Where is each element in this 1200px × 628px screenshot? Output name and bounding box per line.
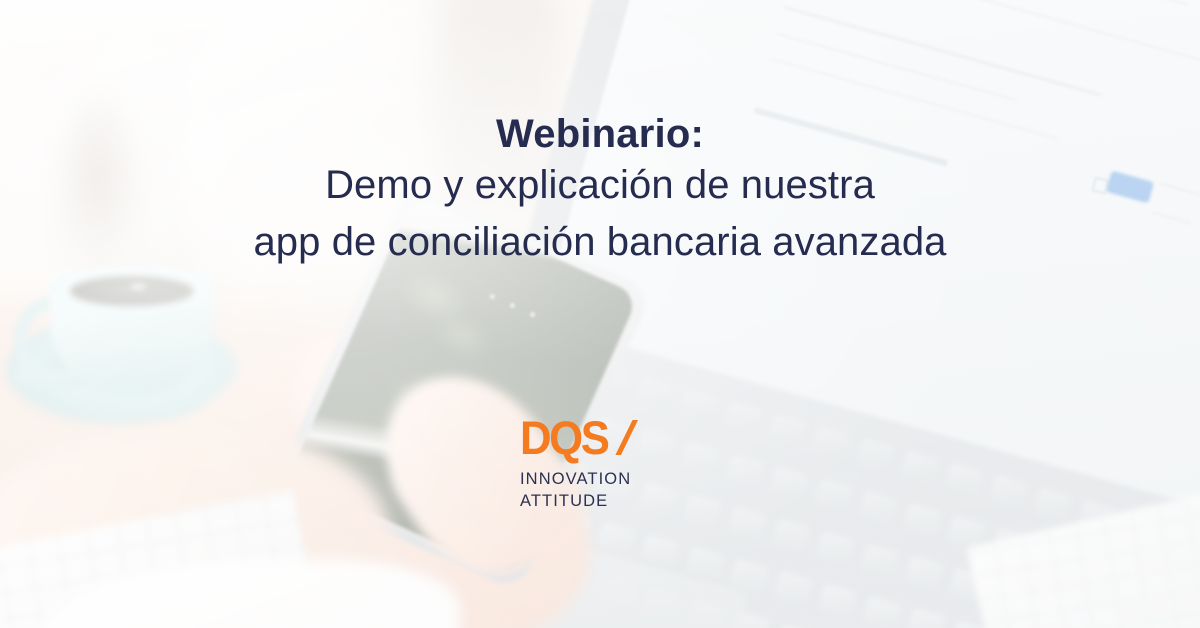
- subtitle-line-2: app de conciliación bancaria avanzada: [253, 214, 946, 271]
- banner-content: Webinario: Demo y explicación de nuestra…: [0, 0, 1200, 628]
- webinar-banner: Webinario: Demo y explicación de nuestra…: [0, 0, 1200, 628]
- page-title: Webinario:: [496, 112, 704, 157]
- tagline-innovation: INNOVATION: [520, 469, 670, 491]
- tagline-attitude: ATTITUDE: [520, 491, 670, 513]
- dqs-logo: DQS / INNOVATION ATTITUDE: [520, 414, 670, 513]
- subtitle-line-1: Demo y explicación de nuestra: [253, 157, 946, 214]
- dqs-tagline: INNOVATION ATTITUDE: [520, 469, 670, 513]
- banner-subtitle: Demo y explicación de nuestra app de con…: [253, 157, 946, 271]
- dqs-slash-icon: /: [617, 414, 635, 461]
- dqs-letters: DQS: [520, 414, 607, 461]
- dqs-wordmark: DQS /: [520, 414, 670, 461]
